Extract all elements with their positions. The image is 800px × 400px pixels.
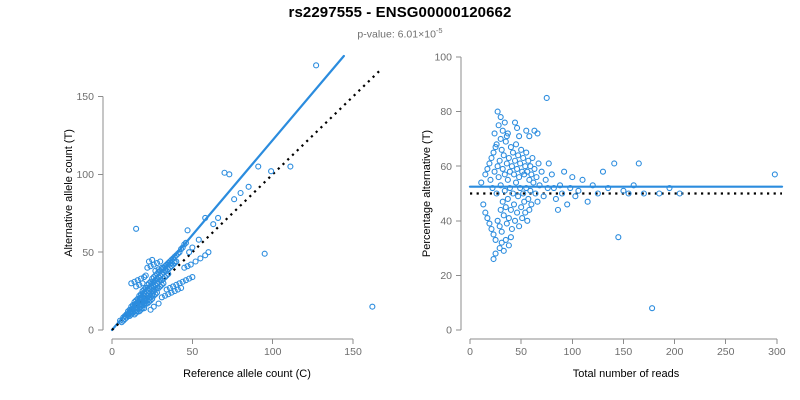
data-point: [498, 136, 503, 141]
data-point: [485, 166, 490, 171]
x-tick-label: 50: [515, 346, 527, 358]
data-point: [580, 177, 585, 182]
data-point: [570, 175, 575, 180]
data-point: [495, 164, 500, 169]
data-point: [612, 161, 617, 166]
data-point: [517, 134, 522, 139]
data-point: [501, 248, 506, 253]
data-point: [493, 237, 498, 242]
data-point: [532, 166, 537, 171]
data-point: [479, 180, 484, 185]
data-point: [505, 196, 510, 201]
data-point: [501, 213, 506, 218]
data-point: [565, 202, 570, 207]
data-point: [576, 188, 581, 193]
data-point: [511, 202, 516, 207]
data-point: [498, 207, 503, 212]
data-point: [514, 180, 519, 185]
data-point: [496, 175, 501, 180]
y-tick-label: 20: [440, 270, 452, 282]
data-point: [489, 226, 494, 231]
data-point: [524, 150, 529, 155]
data-point: [515, 166, 520, 171]
data-point: [516, 153, 521, 158]
data-point: [514, 142, 519, 147]
data-point: [529, 202, 534, 207]
data-point: [500, 166, 505, 171]
data-point: [515, 125, 520, 130]
y-tick-label: 100: [434, 52, 452, 64]
data-point: [510, 150, 515, 155]
data-point: [523, 164, 528, 169]
data-point: [521, 156, 526, 161]
data-point: [527, 134, 532, 139]
data-point: [650, 306, 655, 311]
x-tick-label: 0: [467, 346, 473, 358]
data-point: [504, 161, 509, 166]
data-point: [498, 115, 503, 120]
data-point: [489, 156, 494, 161]
data-point: [481, 202, 486, 207]
data-point: [508, 145, 513, 150]
data-point: [546, 161, 551, 166]
x-tick-label: 100: [564, 346, 582, 358]
data-point: [519, 205, 524, 210]
data-point: [616, 235, 621, 240]
data-point: [518, 161, 523, 166]
data-point: [553, 196, 558, 201]
x-tick-label: 150: [615, 346, 633, 358]
data-point: [636, 161, 641, 166]
data-point: [500, 128, 505, 133]
data-point: [585, 199, 590, 204]
data-point: [495, 218, 500, 223]
data-point: [503, 139, 508, 144]
data-point: [600, 169, 605, 174]
data-point: [493, 251, 498, 256]
data-point: [509, 164, 514, 169]
data-point: [513, 120, 518, 125]
data-point: [499, 147, 504, 152]
data-point: [503, 205, 508, 210]
data-point: [526, 196, 531, 201]
data-point: [508, 235, 513, 240]
data-point: [485, 216, 490, 221]
data-point: [505, 177, 510, 182]
figure-container: rs2297555 - ENSG00000120662 p-value: 6.0…: [0, 0, 800, 400]
data-point: [483, 210, 488, 215]
data-point: [513, 158, 518, 163]
data-point: [504, 221, 509, 226]
data-point: [506, 156, 511, 161]
data-point: [519, 147, 524, 152]
x-axis-label: Total number of reads: [573, 368, 680, 380]
data-point: [495, 109, 500, 114]
data-point: [488, 177, 493, 182]
data-point: [535, 199, 540, 204]
data-point: [501, 153, 506, 158]
data-point: [497, 224, 502, 229]
data-point: [543, 177, 548, 182]
data-point: [515, 210, 520, 215]
data-point: [772, 172, 777, 177]
data-point: [544, 95, 549, 100]
data-point: [530, 156, 535, 161]
data-point: [657, 191, 662, 196]
y-tick-label: 40: [440, 215, 452, 227]
x-tick-label: 200: [666, 346, 684, 358]
data-point: [499, 229, 504, 234]
data-point: [549, 172, 554, 177]
data-point: [573, 194, 578, 199]
data-point: [513, 218, 518, 223]
data-point: [500, 199, 505, 204]
data-point: [502, 172, 507, 177]
x-tick-label: 250: [717, 346, 735, 358]
data-point: [536, 161, 541, 166]
data-point: [517, 175, 522, 180]
x-tick-label: 300: [768, 346, 786, 358]
data-point: [524, 128, 529, 133]
data-point: [492, 131, 497, 136]
data-point: [508, 207, 513, 212]
data-point: [527, 207, 532, 212]
data-point: [534, 175, 539, 180]
data-point: [511, 172, 516, 177]
data-point: [509, 226, 514, 231]
data-point: [503, 237, 508, 242]
data-point: [506, 243, 511, 248]
data-point: [492, 169, 497, 174]
y-tick-label: 0: [446, 325, 452, 337]
y-tick-label: 60: [440, 161, 452, 173]
data-point: [529, 172, 534, 177]
data-point: [491, 232, 496, 237]
data-point: [487, 161, 492, 166]
data-point: [483, 172, 488, 177]
data-point: [491, 257, 496, 262]
data-point: [491, 150, 496, 155]
data-point: [496, 123, 501, 128]
data-point: [517, 224, 522, 229]
data-point: [520, 216, 525, 221]
data-point: [562, 169, 567, 174]
data-point: [487, 221, 492, 226]
data-point: [531, 180, 536, 185]
data-point: [506, 216, 511, 221]
data-point: [502, 120, 507, 125]
data-point: [497, 158, 502, 163]
scatter-panel-right: 050100150200250300Total number of reads0…: [0, 0, 800, 400]
y-tick-label: 80: [440, 106, 452, 118]
data-point: [555, 207, 560, 212]
y-axis-label: Percentage alternative (T): [421, 130, 433, 257]
data-point: [525, 218, 530, 223]
data-point: [539, 169, 544, 174]
